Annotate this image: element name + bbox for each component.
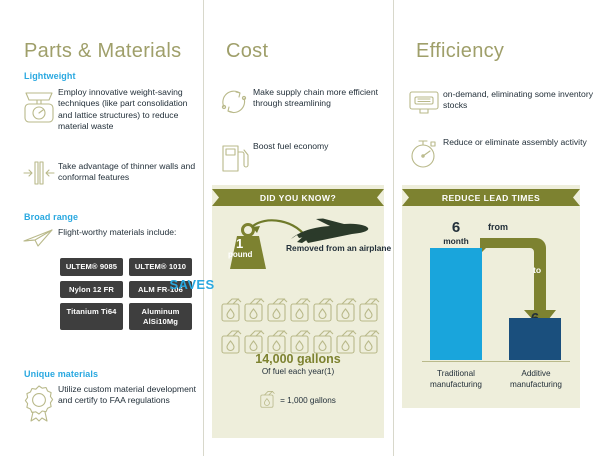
infographic-root: Parts & Materials Lightweight Employ inn… — [0, 0, 610, 456]
bullet-text: Reduce or eliminate assembly activity — [443, 136, 587, 148]
subhead-lightweight: Lightweight — [24, 71, 76, 81]
bullet-text: on-demand, eliminating some inventory st… — [443, 88, 600, 112]
fuel-can-icon — [260, 390, 276, 410]
thin-wall-icon — [20, 160, 58, 186]
bullet-flight-worthy: Flight-worthy materials include: — [20, 226, 198, 250]
bar-traditional — [430, 248, 482, 360]
materials-chip-grid: ULTEM® 9085 ULTEM® 1010 Nylon 12 FR ALM … — [60, 258, 192, 330]
from-label: from — [488, 222, 508, 232]
bar-caption-traditional: Traditional manufacturing — [421, 369, 491, 390]
fuel-can-icon — [290, 297, 312, 327]
weight-unit: pound — [228, 250, 252, 259]
fuel-can-icon — [267, 297, 289, 327]
printer-icon — [405, 88, 443, 118]
fuel-can-grid — [221, 297, 381, 359]
material-chip: Titanium Ti64 — [60, 303, 123, 330]
stopwatch-icon — [405, 136, 443, 170]
bullet-reduce-assembly: Reduce or eliminate assembly activity — [405, 136, 600, 170]
material-chip: Aluminum AlSi10Mg — [129, 303, 192, 330]
gallons-value: 14,000 gallons — [212, 352, 384, 366]
bullet-custom-material: Utilize custom material development and … — [20, 383, 200, 423]
cycle-arrows-icon — [215, 86, 253, 118]
bullet-on-demand: on-demand, eliminating some inventory st… — [405, 88, 600, 118]
banner-label: REDUCE LEAD TIMES — [402, 189, 580, 206]
subhead-broad-range: Broad range — [24, 212, 78, 222]
bullet-text: Make supply chain more efficient through… — [253, 86, 385, 110]
legend-label: = 1,000 gallons — [280, 396, 336, 405]
saves-label: SAVES — [0, 277, 384, 292]
fuel-can-icon — [359, 297, 381, 327]
lead-time-bar-chart: 6 month from to 6 weeks Traditional manu… — [402, 206, 580, 406]
banner-label: DID YOU KNOW? — [212, 189, 384, 206]
bullet-thinner-walls: Take advantage of thinner walls and conf… — [20, 160, 198, 186]
paper-plane-icon — [20, 226, 58, 250]
page-title-parts: Parts & Materials — [24, 40, 181, 63]
fuel-pump-icon — [215, 140, 253, 174]
bar-additive — [509, 318, 561, 360]
banner-reduce-lead-times: REDUCE LEAD TIMES — [402, 189, 580, 206]
bullet-text: Boost fuel economy — [253, 140, 328, 152]
bullet-weight-saving: Employ innovative weight-saving techniqu… — [20, 86, 195, 133]
bullet-text: Employ innovative weight-saving techniqu… — [58, 86, 195, 133]
bullet-text: Flight-worthy materials include: — [58, 226, 176, 238]
material-chip: ULTEM® 1010 — [129, 258, 192, 276]
subhead-unique-materials: Unique materials — [24, 369, 98, 379]
bar-caption-additive: Additive manufacturing — [501, 369, 571, 390]
fuel-can-icon — [221, 297, 243, 327]
material-chip: ULTEM® 9085 — [60, 258, 123, 276]
weight-value: 1 — [236, 236, 243, 251]
column-parts-materials: Parts & Materials Lightweight Employ inn… — [0, 0, 203, 456]
bar-unit-traditional: month — [430, 236, 482, 246]
kitchen-scale-icon — [20, 86, 58, 126]
award-ribbon-icon — [20, 383, 58, 423]
banner-did-you-know: DID YOU KNOW? — [212, 189, 384, 206]
plane-caption: Removed from an airplane — [286, 243, 391, 253]
page-title-cost: Cost — [226, 40, 268, 63]
fuel-can-icon — [313, 297, 335, 327]
to-label: to — [533, 265, 541, 275]
fuel-can-icon — [244, 297, 266, 327]
bullet-text: Utilize custom material development and … — [58, 383, 200, 407]
bar-value-traditional: 6 — [430, 220, 482, 235]
bullet-supply-chain: Make supply chain more efficient through… — [215, 86, 385, 118]
bullet-text: Take advantage of thinner walls and conf… — [58, 160, 198, 184]
fuel-can-icon — [336, 297, 358, 327]
fuel-can-legend: = 1,000 gallons — [212, 390, 384, 410]
page-title-efficiency: Efficiency — [416, 40, 504, 63]
gallons-subtext: Of fuel each year(1) — [212, 367, 384, 376]
bullet-fuel-economy: Boost fuel economy — [215, 140, 385, 174]
chart-baseline — [422, 361, 570, 362]
